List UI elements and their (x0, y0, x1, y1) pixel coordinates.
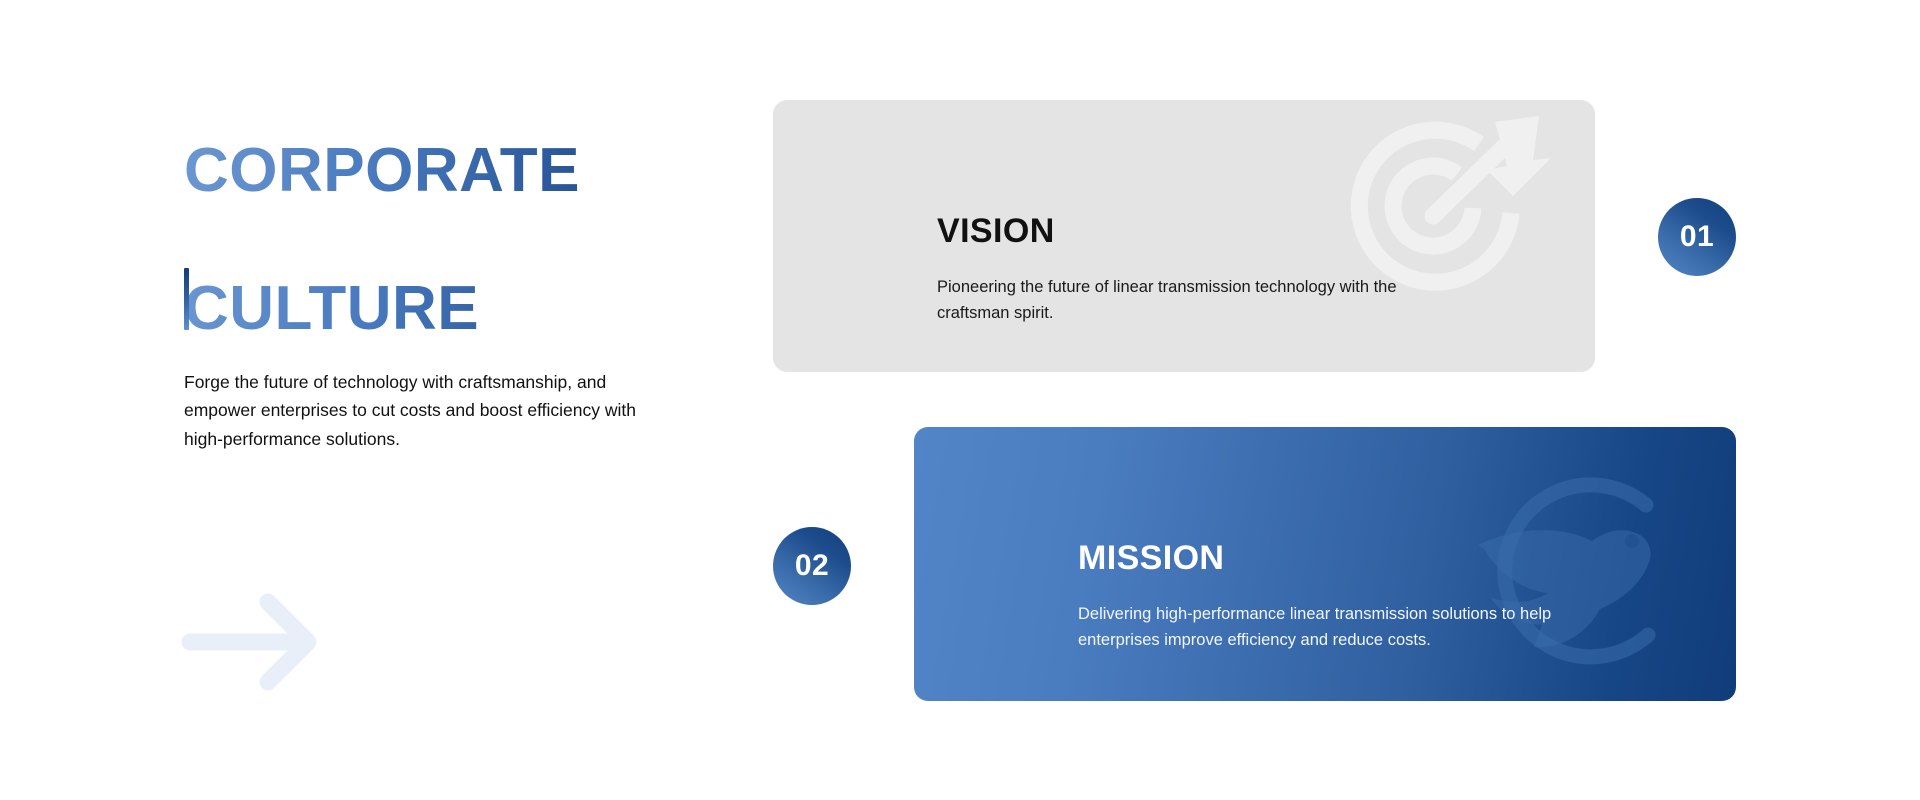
corporate-culture-slide: CORPORATE CULTURE Forge the future of te… (0, 0, 1920, 800)
step-badge-01[interactable]: 01 (1658, 198, 1736, 276)
left-content-column: CORPORATE CULTURE Forge the future of te… (184, 78, 704, 402)
vision-card-title: VISION (937, 214, 1055, 248)
accent-divider-bar (184, 268, 189, 330)
vision-card-body: VISION Pioneering the future of linear t… (773, 100, 1595, 372)
intro-paragraph: Forge the future of technology with craf… (184, 368, 644, 453)
step-badge-01-label: 01 (1680, 220, 1714, 254)
arrow-right-icon (180, 582, 330, 702)
mission-card[interactable]: MISSION Delivering high-performance line… (914, 427, 1736, 701)
mission-card-description: Delivering high-performance linear trans… (1078, 601, 1598, 654)
mission-card-body: MISSION Delivering high-performance line… (914, 427, 1736, 701)
vision-card-description: Pioneering the future of linear transmis… (937, 274, 1457, 327)
step-badge-02-label: 02 (795, 549, 829, 583)
step-badge-02[interactable]: 02 (773, 527, 851, 605)
page-title: CORPORATE CULTURE (184, 78, 704, 402)
page-title-line-2: CULTURE (184, 278, 704, 340)
mission-card-title: MISSION (1078, 541, 1224, 575)
vision-card[interactable]: VISION Pioneering the future of linear t… (773, 100, 1595, 372)
page-title-line-1: CORPORATE (184, 140, 704, 202)
